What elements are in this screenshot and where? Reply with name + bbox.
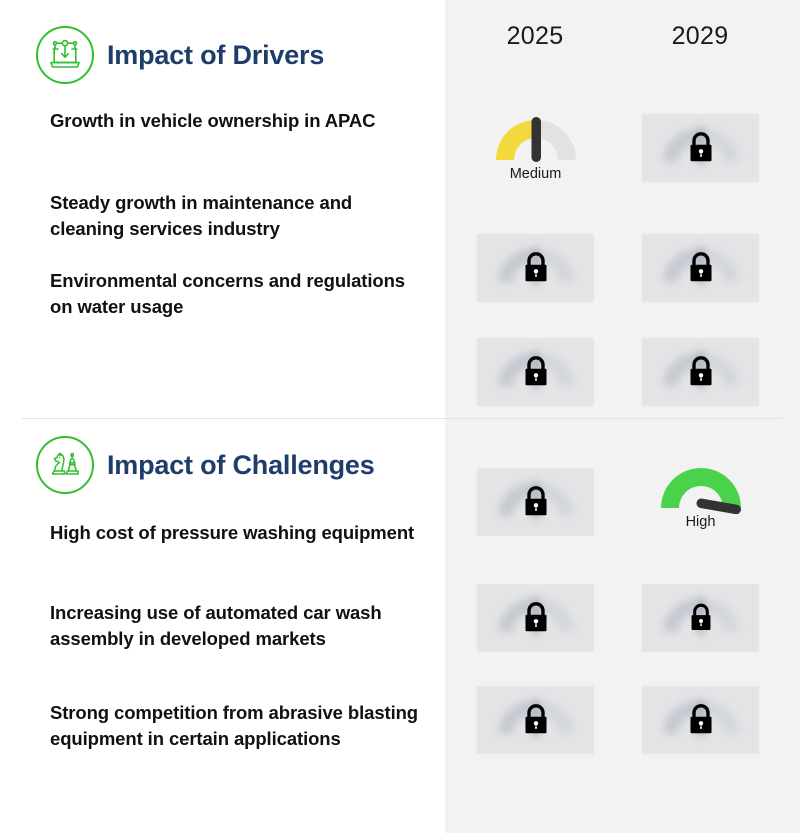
- lock-icon: [686, 701, 716, 737]
- metric-cell-locked[interactable]: [477, 574, 594, 662]
- gauge-medium: Medium: [477, 110, 594, 192]
- metric-cell-locked[interactable]: [642, 224, 759, 312]
- lock-icon: [686, 129, 716, 165]
- section-header-challenges: Impact of Challenges: [36, 436, 375, 494]
- lock-icon: [521, 701, 551, 737]
- lock-icon: [686, 353, 716, 389]
- metric-cell-locked[interactable]: [642, 574, 759, 662]
- factor-text: Increasing use of automated car wash ass…: [50, 600, 420, 652]
- lock-icon: [686, 249, 716, 285]
- metric-cell-locked[interactable]: [477, 224, 594, 312]
- column-header-2025: 2025: [455, 22, 615, 51]
- gauge-level-label: Medium: [477, 166, 594, 182]
- metric-cell-gauge[interactable]: High: [642, 452, 759, 540]
- gauge-level-label: High: [642, 514, 759, 530]
- section-title-challenges: Impact of Challenges: [107, 450, 375, 481]
- section-header-drivers: Impact of Drivers: [36, 26, 324, 84]
- metric-cell-locked[interactable]: [477, 458, 594, 546]
- metric-cell-locked[interactable]: [642, 104, 759, 192]
- metric-cell-locked[interactable]: [642, 328, 759, 416]
- lock-icon: [521, 599, 551, 635]
- lock-icon: [521, 353, 551, 389]
- lock-icon: [521, 249, 551, 285]
- metric-cell-locked[interactable]: [642, 676, 759, 764]
- factor-text: Environmental concerns and regulations o…: [50, 268, 420, 320]
- metric-cell-gauge[interactable]: Medium: [477, 104, 594, 192]
- factor-text: High cost of pressure washing equipment: [50, 520, 420, 546]
- column-header-2029: 2029: [620, 22, 780, 51]
- factor-text: Growth in vehicle ownership in APAC: [50, 108, 420, 134]
- section-divider: [22, 418, 782, 419]
- section-title-drivers: Impact of Drivers: [107, 40, 324, 71]
- factor-text: Strong competition from abrasive blastin…: [50, 700, 420, 752]
- chess-pieces-icon: [36, 436, 94, 494]
- lock-icon: [687, 601, 714, 634]
- metric-cell-locked[interactable]: [477, 676, 594, 764]
- metric-cell-locked[interactable]: [477, 328, 594, 416]
- laptop-download-gear-icon: [36, 26, 94, 84]
- gauge-high: High: [642, 458, 759, 540]
- impact-matrix: 2025 2029 Impact of Drivers Growth in ve…: [0, 0, 800, 833]
- factor-text: Steady growth in maintenance and cleanin…: [50, 190, 420, 242]
- lock-icon: [521, 483, 551, 519]
